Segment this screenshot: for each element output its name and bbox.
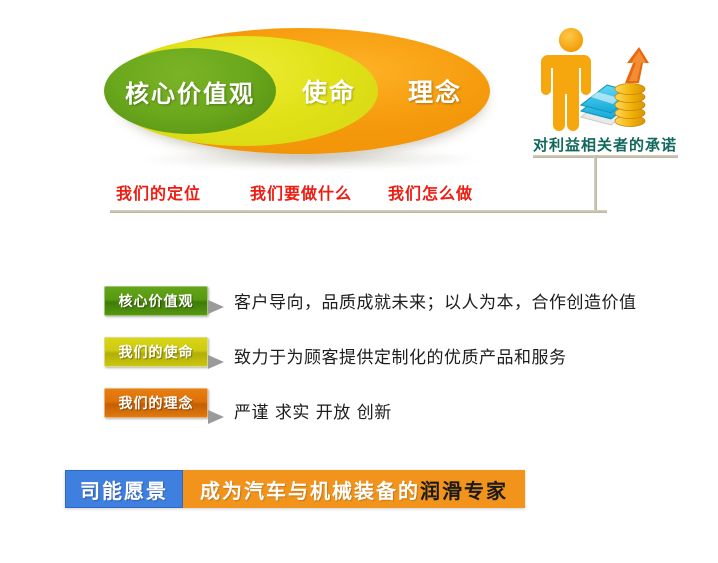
badge-mission: 我们的使命 [104, 337, 208, 367]
badge-core-values: 核心价值观 [104, 286, 208, 316]
value-row-core-values: 核心价值观 客户导向，品质成就未来；以人为本，合作创造价值 [104, 286, 704, 337]
value-text-philosophy: 严谨 求实 开放 创新 [234, 398, 392, 423]
badge-mission-label: 我们的使命 [119, 342, 194, 362]
value-text-core-values: 客户导向，品质成就未来；以人为本，合作创造价值 [234, 288, 637, 313]
vision-banner: 司能愿景 成为汽车与机械装备的 润滑专家 [65, 470, 525, 508]
badge-philosophy: 我们的理念 [104, 388, 208, 418]
value-rows: 核心价值观 客户导向，品质成就未来；以人为本，合作创造价值 我们的使命 致力于为… [104, 286, 704, 439]
question-label-positioning: 我们的定位 [116, 180, 201, 204]
vision-banner-text-emphasis: 润滑专家 [420, 475, 508, 504]
vision-banner-right: 成为汽车与机械装备的 润滑专家 [183, 470, 525, 508]
value-row-philosophy: 我们的理念 严谨 求实 开放 创新 [104, 388, 704, 439]
arrow-marker-icon [208, 355, 224, 369]
stakeholder-label: 对利益相关者的承诺 [533, 134, 677, 155]
connector-horizontal-line [110, 210, 607, 213]
venn-inner-label: 核心价值观 [125, 74, 255, 109]
venn-diagram: 理念 使命 核心价值观 [100, 22, 500, 162]
badge-core-values-label: 核心价值观 [119, 291, 194, 311]
connector-top-line [533, 155, 678, 158]
arrow-marker-icon [208, 410, 224, 424]
value-text-mission: 致力于为顾客提供定制化的优质产品和服务 [234, 343, 567, 368]
value-row-mission: 我们的使命 致力于为顾客提供定制化的优质产品和服务 [104, 337, 704, 388]
person-with-money-icon [527, 25, 657, 135]
slide-canvas: 理念 使命 核心价值观 [0, 0, 718, 563]
arrow-marker-icon [208, 300, 224, 314]
vision-banner-left: 司能愿景 [65, 470, 183, 508]
venn-middle-label: 使命 [302, 73, 356, 109]
question-label-how: 我们怎么做 [388, 180, 473, 204]
question-label-what: 我们要做什么 [250, 180, 352, 204]
vision-banner-left-label: 司能愿景 [80, 475, 168, 504]
vision-banner-text-plain: 成为汽车与机械装备的 [200, 475, 420, 504]
venn-ellipse-inner: 核心价值观 [104, 48, 276, 134]
question-row: 我们的定位 我们要做什么 我们怎么做 [110, 180, 610, 206]
venn-outer-label: 理念 [408, 73, 462, 109]
badge-philosophy-label: 我们的理念 [119, 393, 194, 413]
